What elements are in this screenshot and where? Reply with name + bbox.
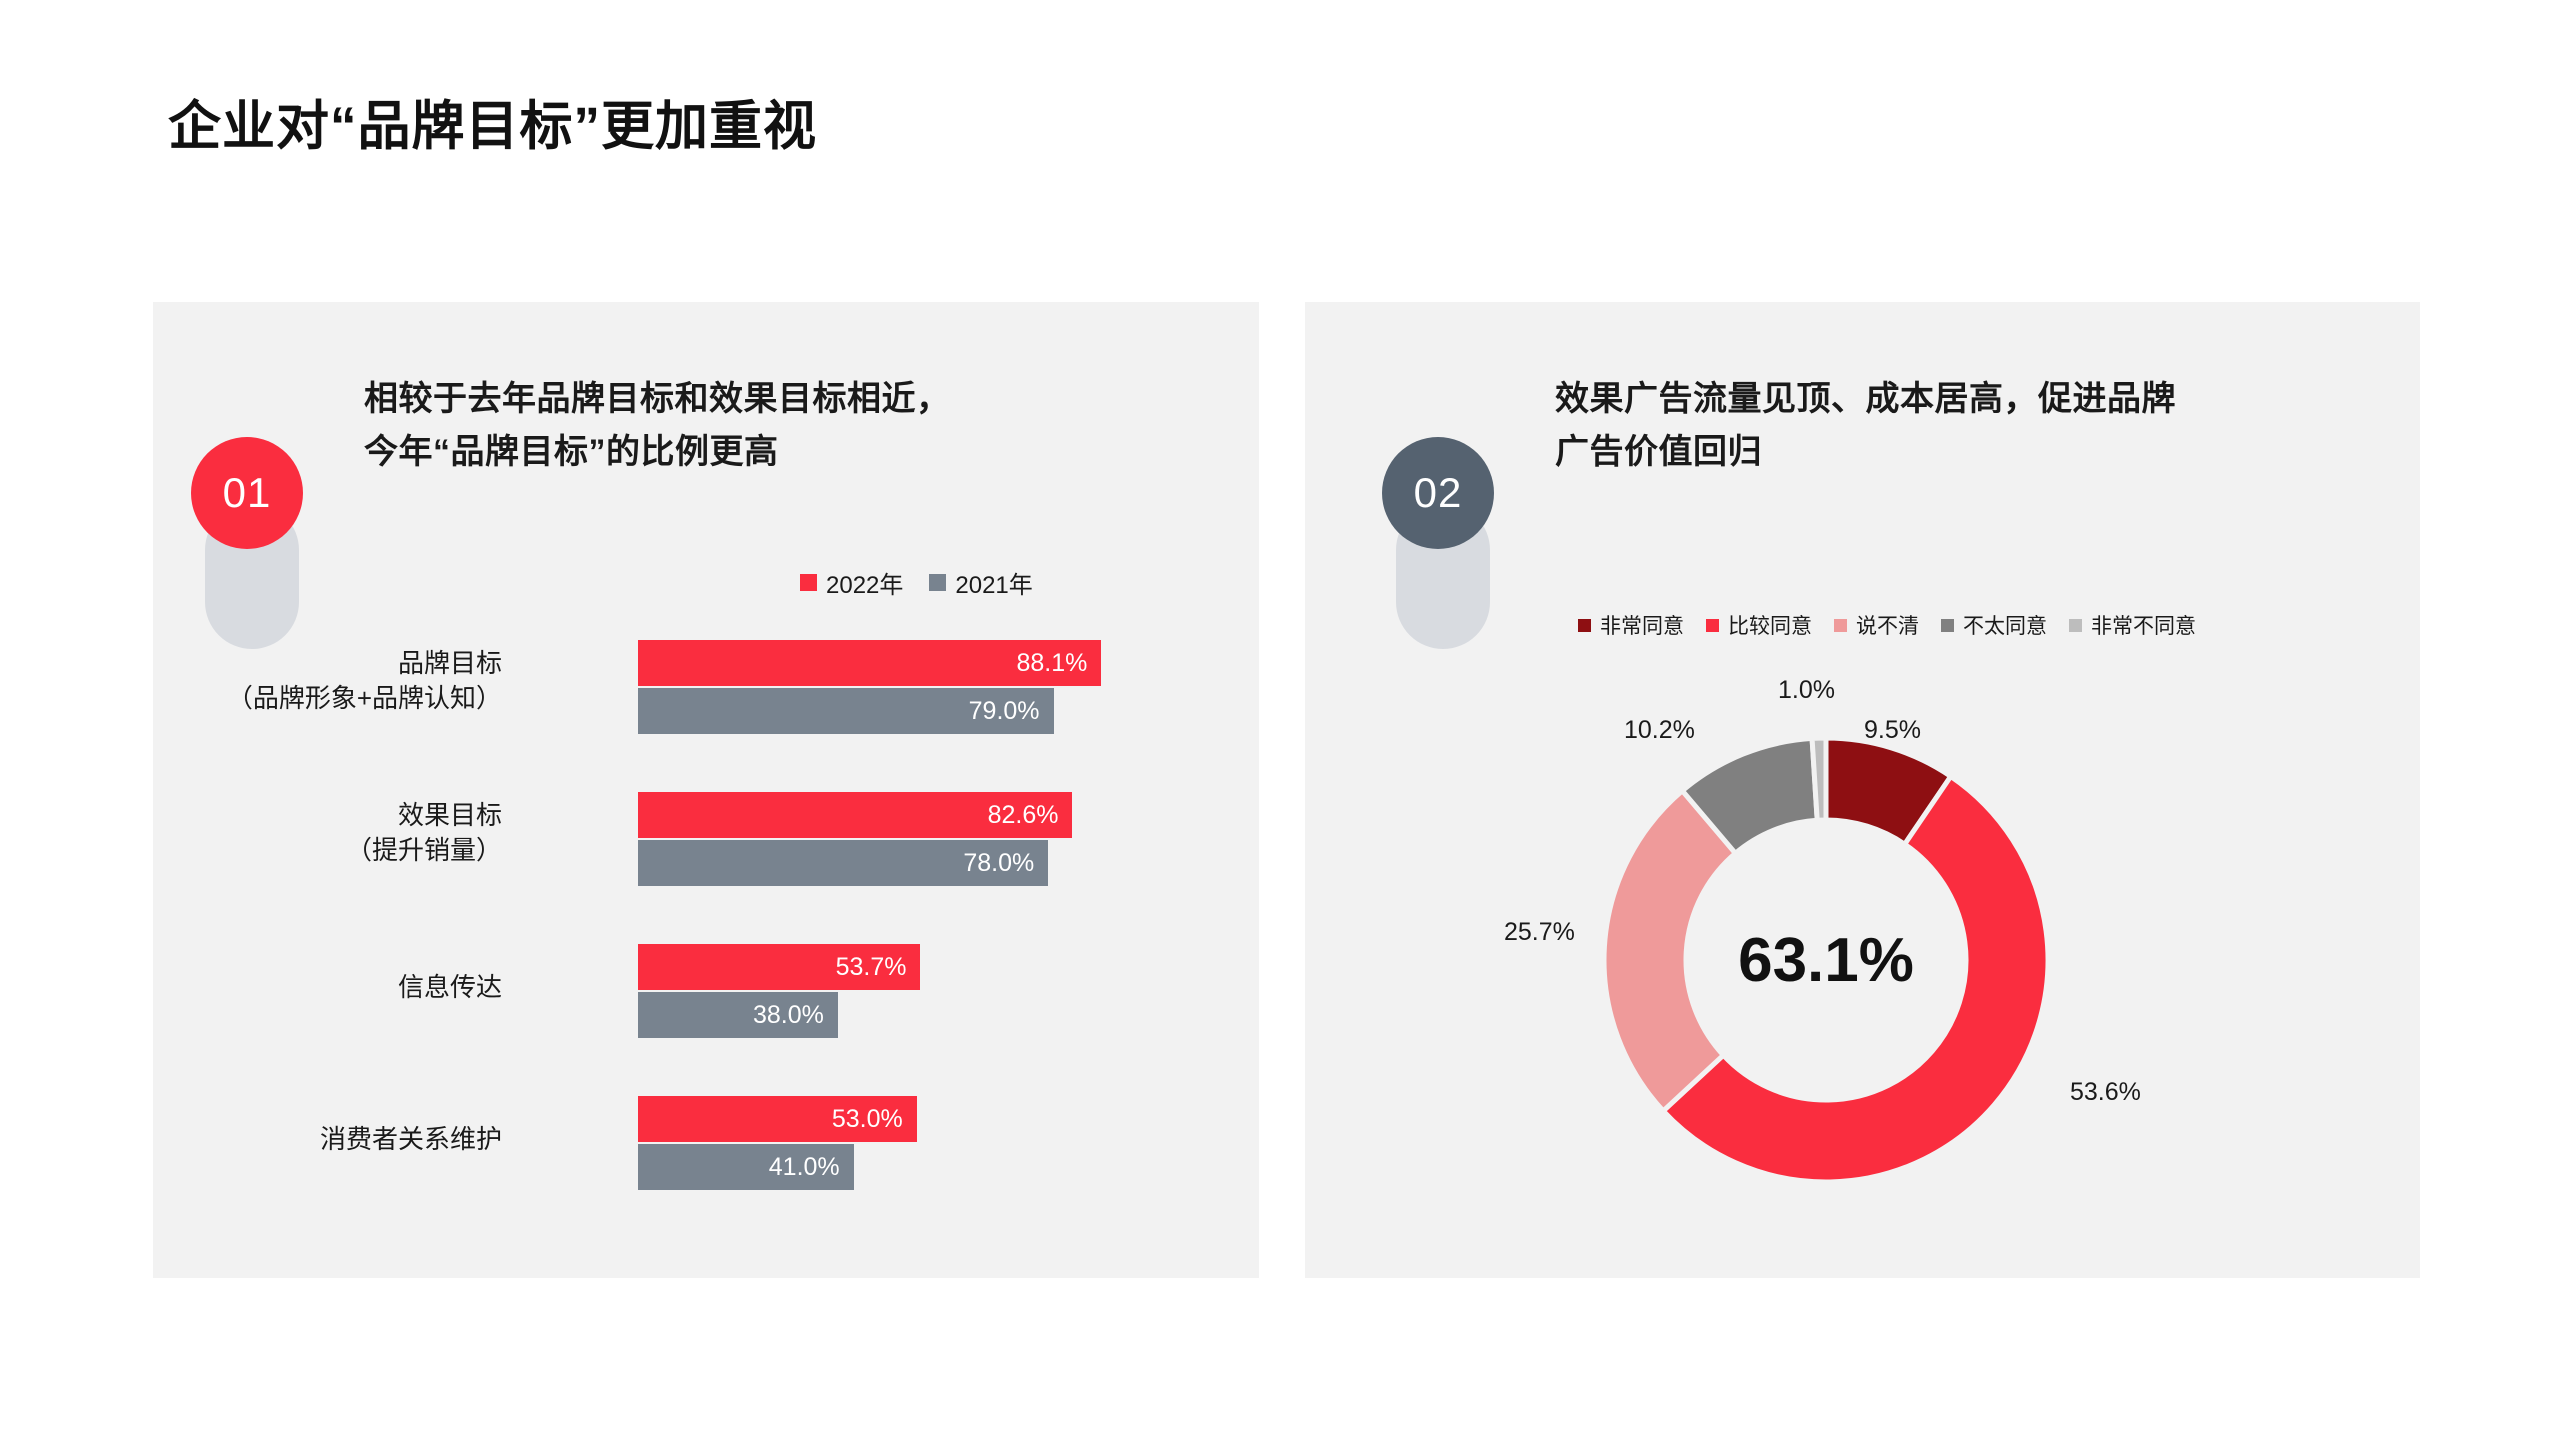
bar-category-line: （品牌形象+品牌认知） bbox=[202, 681, 502, 716]
bar-track: 53.7%38.0% bbox=[638, 944, 1164, 1038]
donut-value-label: 9.5% bbox=[1864, 716, 1921, 745]
legend-swatch-icon bbox=[1941, 619, 1954, 632]
left-heading-line-1: 相较于去年品牌目标和效果目标相近， bbox=[364, 373, 1124, 426]
legend-swatch-icon bbox=[929, 574, 946, 591]
badge-02: 02 bbox=[1382, 437, 1504, 649]
donut-chart: 63.1% 9.5%53.6%25.7%10.2%1.0% bbox=[1596, 730, 2156, 1210]
bar-legend-label: 2021年 bbox=[955, 565, 1032, 600]
bar-category-label: 信息传达 bbox=[202, 970, 502, 1005]
bar-category-label: 消费者关系维护 bbox=[202, 1122, 502, 1157]
donut-legend-item[interactable]: 不太同意 bbox=[1941, 610, 2047, 640]
donut-segment[interactable] bbox=[1812, 738, 1826, 820]
bar-2021[interactable]: 79.0% bbox=[638, 688, 1054, 734]
donut-value-label: 10.2% bbox=[1624, 716, 1695, 745]
bar-category-line: 信息传达 bbox=[202, 970, 502, 1005]
donut-chart-legend: 非常同意比较同意说不清不太同意非常不同意 bbox=[1578, 610, 2196, 640]
donut-legend-label: 非常同意 bbox=[1600, 610, 1684, 640]
bar-legend-label: 2022年 bbox=[826, 565, 903, 600]
bar-track: 82.6%78.0% bbox=[638, 792, 1164, 886]
bar-category-line: 效果目标 bbox=[202, 798, 502, 833]
donut-legend-label: 说不清 bbox=[1856, 610, 1919, 640]
bar-chart: 品牌目标（品牌形象+品牌认知）88.1%79.0%效果目标（提升销量）82.6%… bbox=[364, 640, 1164, 1220]
donut-legend-label: 非常不同意 bbox=[2091, 610, 2196, 640]
legend-swatch-icon bbox=[800, 574, 817, 591]
badge-number-02: 02 bbox=[1382, 437, 1494, 549]
donut-legend-item[interactable]: 非常同意 bbox=[1578, 610, 1684, 640]
donut-svg bbox=[1596, 730, 2156, 1210]
legend-swatch-icon bbox=[1578, 619, 1591, 632]
legend-swatch-icon bbox=[2069, 619, 2082, 632]
right-heading-line-1: 效果广告流量见顶、成本居高，促进品牌 bbox=[1555, 373, 2345, 426]
badge-01: 01 bbox=[191, 437, 313, 649]
left-panel-heading: 相较于去年品牌目标和效果目标相近， 今年“品牌目标”的比例更高 bbox=[364, 373, 1124, 478]
bar-2022[interactable]: 53.7% bbox=[638, 944, 920, 990]
left-heading-line-2: 今年“品牌目标”的比例更高 bbox=[364, 426, 1124, 479]
bar-2022[interactable]: 88.1% bbox=[638, 640, 1101, 686]
slide-root: 企业对“品牌目标”更加重视 01 相较于去年品牌目标和效果目标相近， 今年“品牌… bbox=[0, 0, 2559, 1439]
donut-segment[interactable] bbox=[1604, 791, 1735, 1111]
donut-value-label: 53.6% bbox=[2070, 1078, 2141, 1107]
donut-legend-item[interactable]: 比较同意 bbox=[1706, 610, 1812, 640]
donut-legend-label: 比较同意 bbox=[1728, 610, 1812, 640]
bar-track: 53.0%41.0% bbox=[638, 1096, 1164, 1190]
bar-category-label: 效果目标（提升销量） bbox=[202, 798, 502, 868]
bar-2021[interactable]: 78.0% bbox=[638, 840, 1048, 886]
legend-swatch-icon bbox=[1834, 619, 1847, 632]
donut-legend-item[interactable]: 非常不同意 bbox=[2069, 610, 2196, 640]
right-panel-heading: 效果广告流量见顶、成本居高，促进品牌 广告价值回归 bbox=[1555, 373, 2345, 478]
bar-category-label: 品牌目标（品牌形象+品牌认知） bbox=[202, 646, 502, 716]
bar-category-line: （提升销量） bbox=[202, 833, 502, 868]
bar-2022[interactable]: 82.6% bbox=[638, 792, 1072, 838]
donut-legend-label: 不太同意 bbox=[1963, 610, 2047, 640]
bar-legend-item[interactable]: 2021年 bbox=[929, 565, 1032, 600]
badge-number-01: 01 bbox=[191, 437, 303, 549]
donut-value-label: 1.0% bbox=[1778, 676, 1835, 705]
legend-swatch-icon bbox=[1706, 619, 1719, 632]
bar-category-line: 品牌目标 bbox=[202, 646, 502, 681]
bar-2022[interactable]: 53.0% bbox=[638, 1096, 917, 1142]
bar-2021[interactable]: 38.0% bbox=[638, 992, 838, 1038]
page-title: 企业对“品牌目标”更加重视 bbox=[168, 84, 817, 160]
bar-track: 88.1%79.0% bbox=[638, 640, 1164, 734]
right-heading-line-2: 广告价值回归 bbox=[1555, 426, 2345, 479]
donut-value-label: 25.7% bbox=[1504, 918, 1575, 947]
bar-chart-legend: 2022年2021年 bbox=[800, 565, 1033, 600]
bar-category-line: 消费者关系维护 bbox=[202, 1122, 502, 1157]
donut-legend-item[interactable]: 说不清 bbox=[1834, 610, 1919, 640]
bar-2021[interactable]: 41.0% bbox=[638, 1144, 854, 1190]
bar-legend-item[interactable]: 2022年 bbox=[800, 565, 903, 600]
